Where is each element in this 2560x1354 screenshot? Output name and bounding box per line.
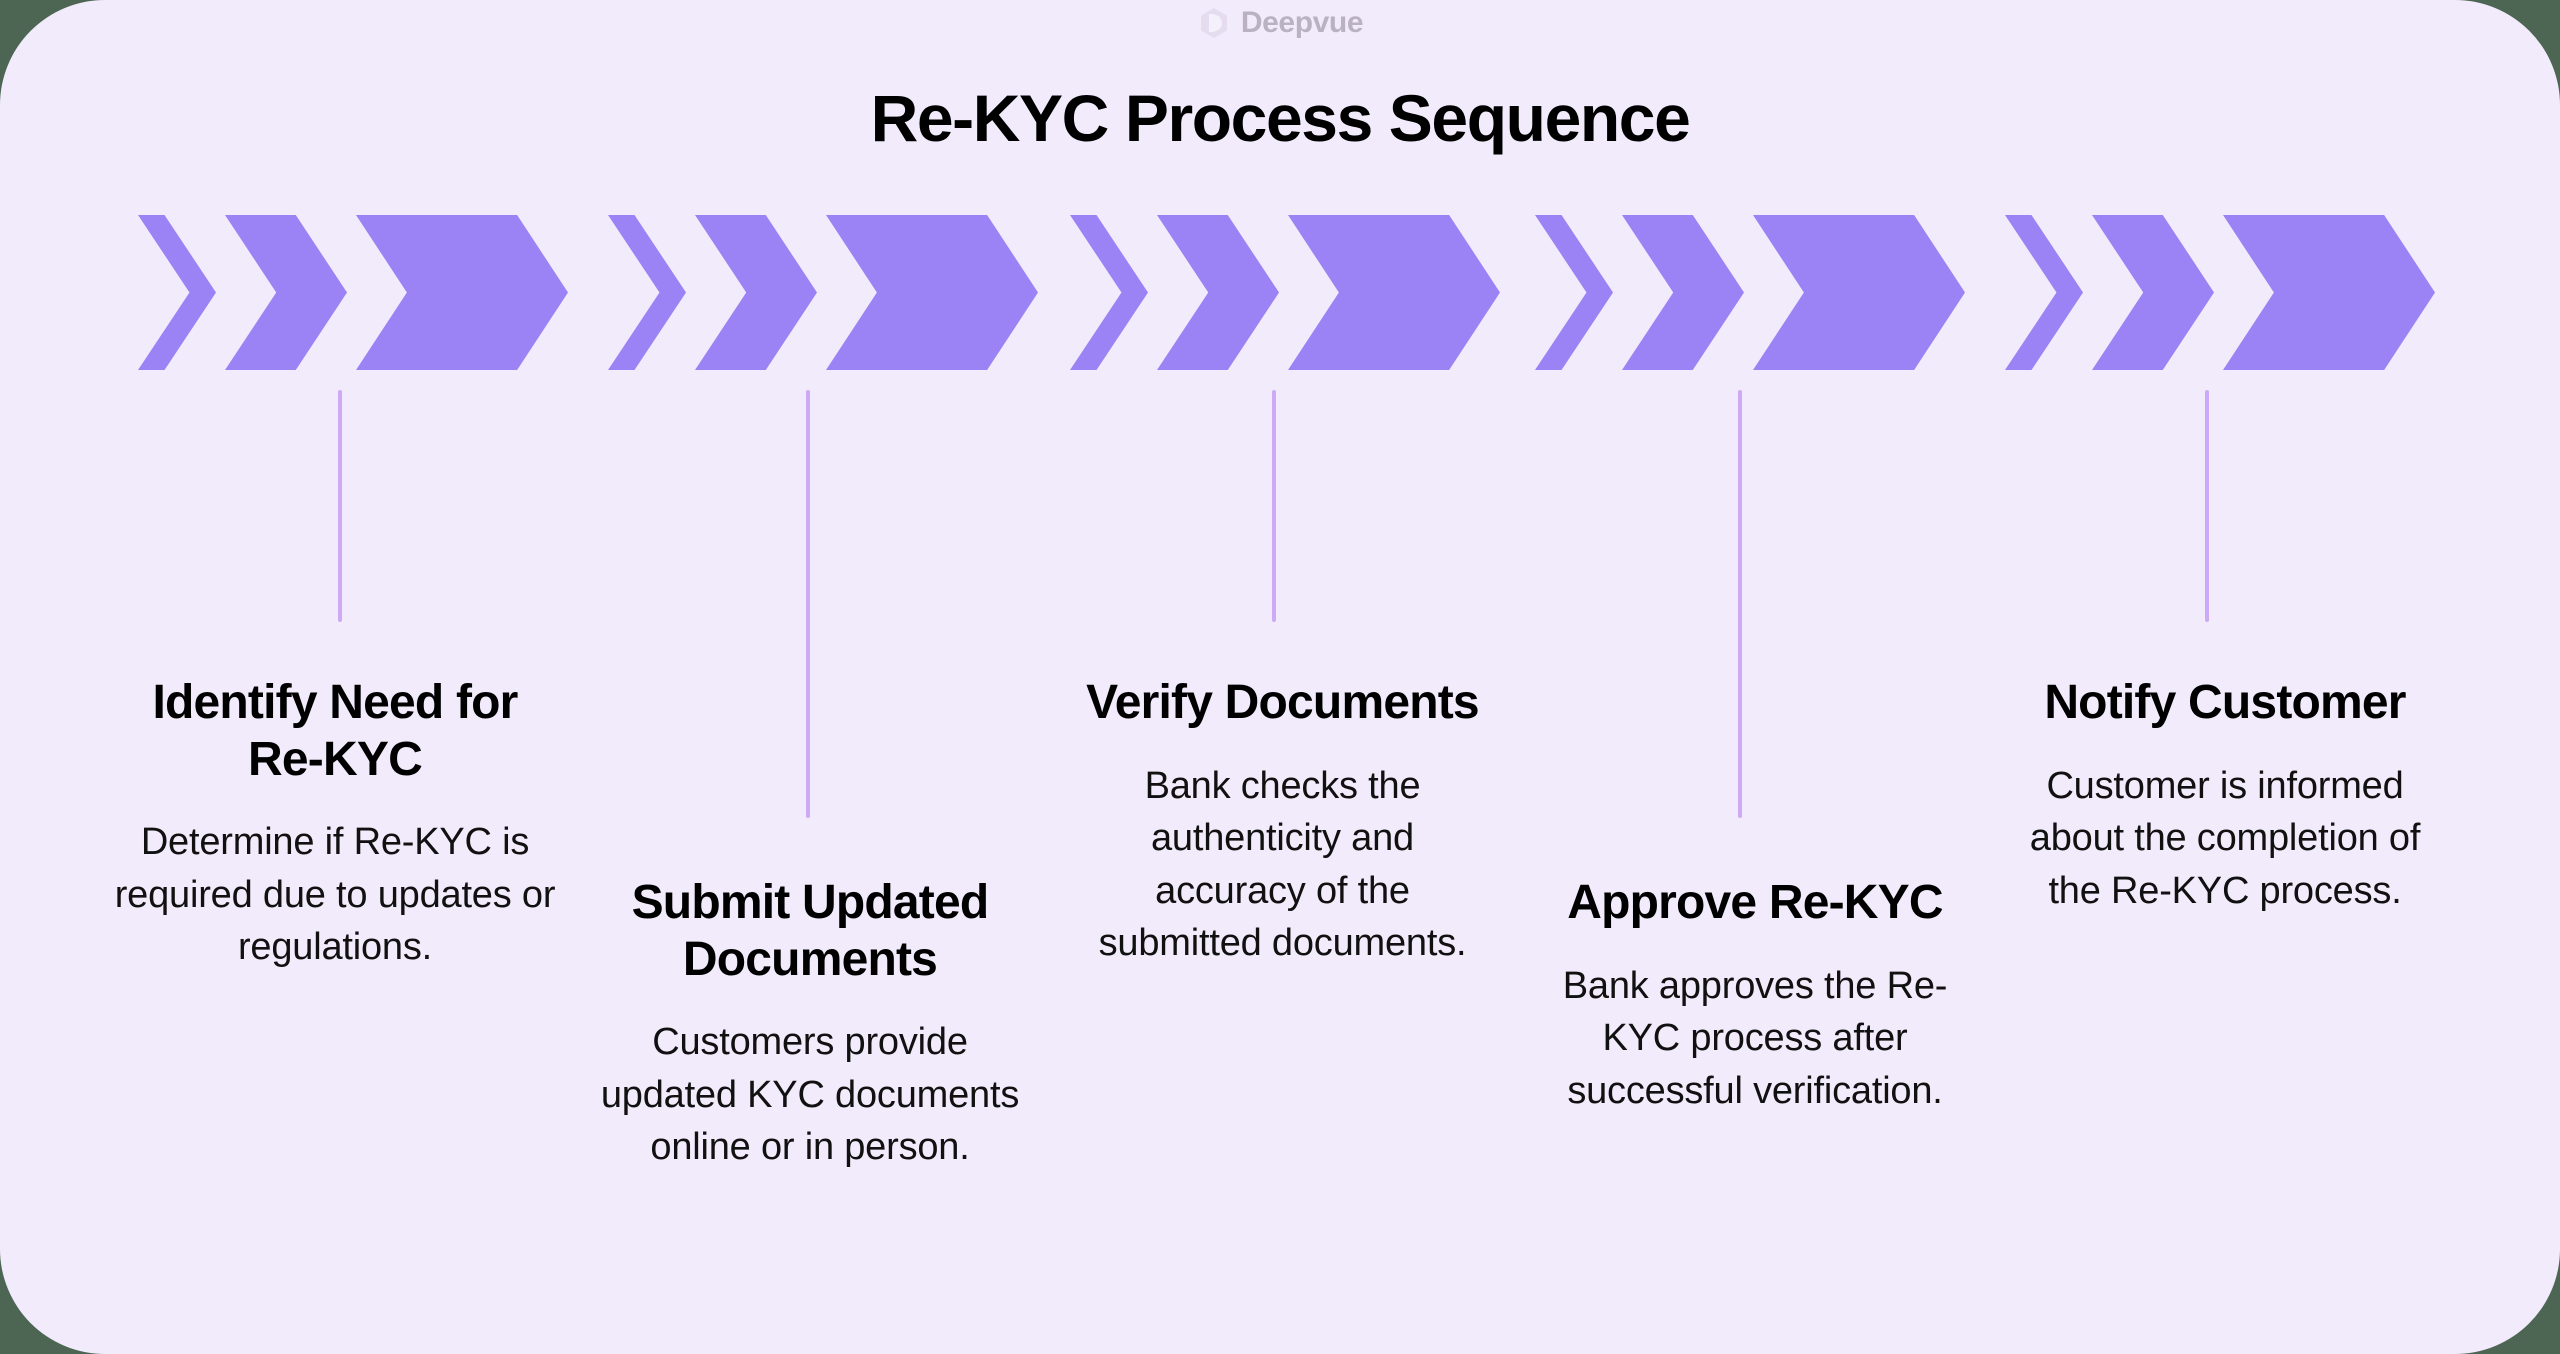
chevron-large-icon [1288,215,1500,370]
chevron-medium-icon [2092,215,2214,370]
chevron-medium-icon [225,215,347,370]
chevron-group-step-4 [1535,215,1965,370]
infographic-canvas: Deepvue Re-KYC Process Sequence [0,0,2560,1354]
step-description-1: Determine if Re-KYC is required due to u… [110,816,560,973]
brand-logo: Deepvue [0,6,2560,40]
chevron-small-icon [138,215,216,370]
chevron-small-icon [2005,215,2083,370]
chevron-large-icon [1753,215,1965,370]
chevron-large-icon [2223,215,2435,370]
step-title-2: Submit Updated Documents [585,875,1035,988]
step-title-3: Verify Documents [1075,675,1490,732]
connector-line-step-2 [806,390,810,818]
chevron-small-icon [1535,215,1613,370]
chevron-medium-icon [1157,215,1279,370]
step-column-5: Notify Customer Customer is informed abo… [2000,675,2450,917]
step-title-1: Identify Need for Re-KYC [110,675,560,788]
connector-line-step-4 [1738,390,1742,818]
step-description-2: Customers provide updated KYC documents … [585,1016,1035,1173]
chevron-medium-icon [1622,215,1744,370]
chevron-small-icon [1070,215,1148,370]
chevron-large-icon [356,215,568,370]
step-title-5: Notify Customer [2000,675,2450,732]
brand-name: Deepvue [1241,8,1363,38]
step-column-2: Submit Updated Documents Customers provi… [585,875,1035,1174]
connector-line-step-3 [1272,390,1276,622]
chevron-group-step-3 [1070,215,1500,370]
step-description-5: Customer is informed about the completio… [2000,760,2450,917]
connector-line-step-1 [338,390,342,622]
deepvue-hexagon-logo-icon [1197,6,1231,40]
step-description-3: Bank checks the authenticity and accurac… [1075,760,1490,970]
chevron-small-icon [608,215,686,370]
step-description-4: Bank approves the Re-KYC process after s… [1540,960,1970,1117]
step-column-3: Verify Documents Bank checks the authent… [1075,675,1490,969]
step-title-4: Approve Re-KYC [1540,875,1970,932]
chevron-group-step-5 [2005,215,2435,370]
connector-line-step-5 [2205,390,2209,622]
chevron-group-step-2 [608,215,1038,370]
chevron-band [0,215,2560,370]
step-column-1: Identify Need for Re-KYC Determine if Re… [110,675,560,974]
chevron-large-icon [826,215,1038,370]
page-title: Re-KYC Process Sequence [0,82,2560,155]
step-column-4: Approve Re-KYC Bank approves the Re-KYC … [1540,875,1970,1117]
chevron-group-step-1 [138,215,568,370]
chevron-medium-icon [695,215,817,370]
